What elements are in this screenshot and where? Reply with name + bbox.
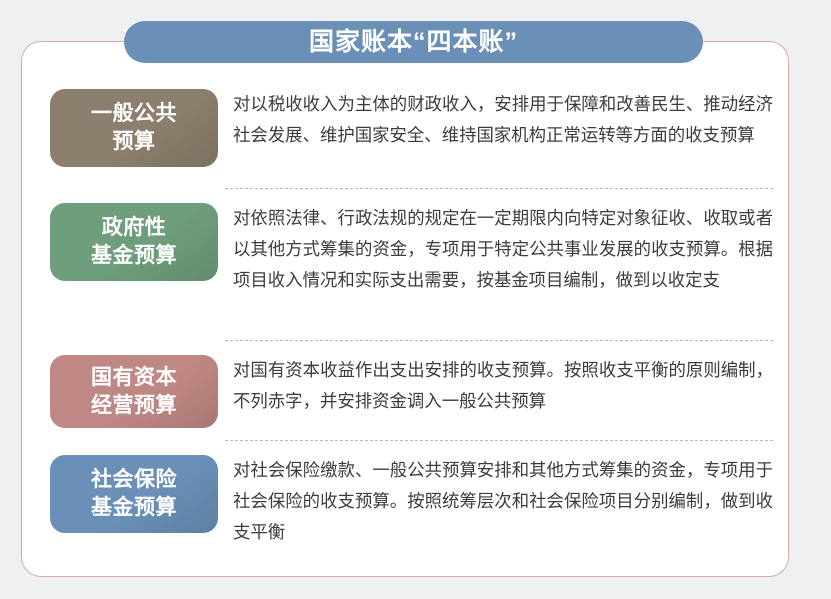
category-chip-state-capital[interactable]: 国有资本 经营预算 [50, 355, 218, 428]
rows-container: 一般公共 预算 对以税收收入为主体的财政收入，安排用于保障和改善民生、推动经济社… [21, 63, 789, 577]
chip-line-1: 国有资本 [91, 364, 177, 392]
title-banner: 国家账本“四本账” [124, 21, 703, 63]
chip-line-1: 政府性 [102, 214, 167, 242]
row-divider-3 [225, 440, 773, 441]
page-title: 国家账本“四本账” [309, 30, 518, 55]
category-chip-government-fund[interactable]: 政府性 基金预算 [50, 203, 218, 281]
row-divider-1 [225, 188, 773, 189]
chip-line-2: 基金预算 [91, 242, 177, 270]
budget-row-government-fund: 政府性 基金预算 对依照法律、行政法规的规定在一定期限内向特定对象征收、收取或者… [21, 203, 789, 296]
budget-row-social-insurance: 社会保险 基金预算 对社会保险缴款、一般公共预算安排和其他方式筹集的资金，专项用… [21, 455, 789, 548]
chip-line-1: 一般公共 [91, 100, 177, 128]
budget-row-general-public: 一般公共 预算 对以税收收入为主体的财政收入，安排用于保障和改善民生、推动经济社… [21, 89, 789, 167]
budget-row-state-capital: 国有资本 经营预算 对国有资本收益作出支出安排的收支预算。按照收支平衡的原则编制… [21, 355, 789, 428]
chip-line-2: 经营预算 [91, 392, 177, 420]
category-description-general-public: 对以税收收入为主体的财政收入，安排用于保障和改善民生、推动经济社会发展、维护国家… [233, 89, 773, 151]
row-divider-2 [225, 340, 773, 341]
chip-line-1: 社会保险 [91, 466, 177, 494]
category-chip-social-insurance[interactable]: 社会保险 基金预算 [50, 455, 218, 533]
category-description-government-fund: 对依照法律、行政法规的规定在一定期限内向特定对象征收、收取或者以其他方式筹集的资… [233, 203, 773, 296]
chip-line-2: 预算 [113, 128, 156, 156]
chip-line-2: 基金预算 [91, 494, 177, 522]
category-description-social-insurance: 对社会保险缴款、一般公共预算安排和其他方式筹集的资金，专项用于社会保险的收支预算… [233, 455, 773, 548]
infographic-root: 国家账本“四本账” 一般公共 预算 对以税收收入为主体的财政收入，安排用于保障和… [0, 0, 831, 599]
category-description-state-capital: 对国有资本收益作出支出安排的收支预算。按照收支平衡的原则编制，不列赤字，并安排资… [233, 355, 773, 417]
category-chip-general-public[interactable]: 一般公共 预算 [50, 89, 218, 167]
